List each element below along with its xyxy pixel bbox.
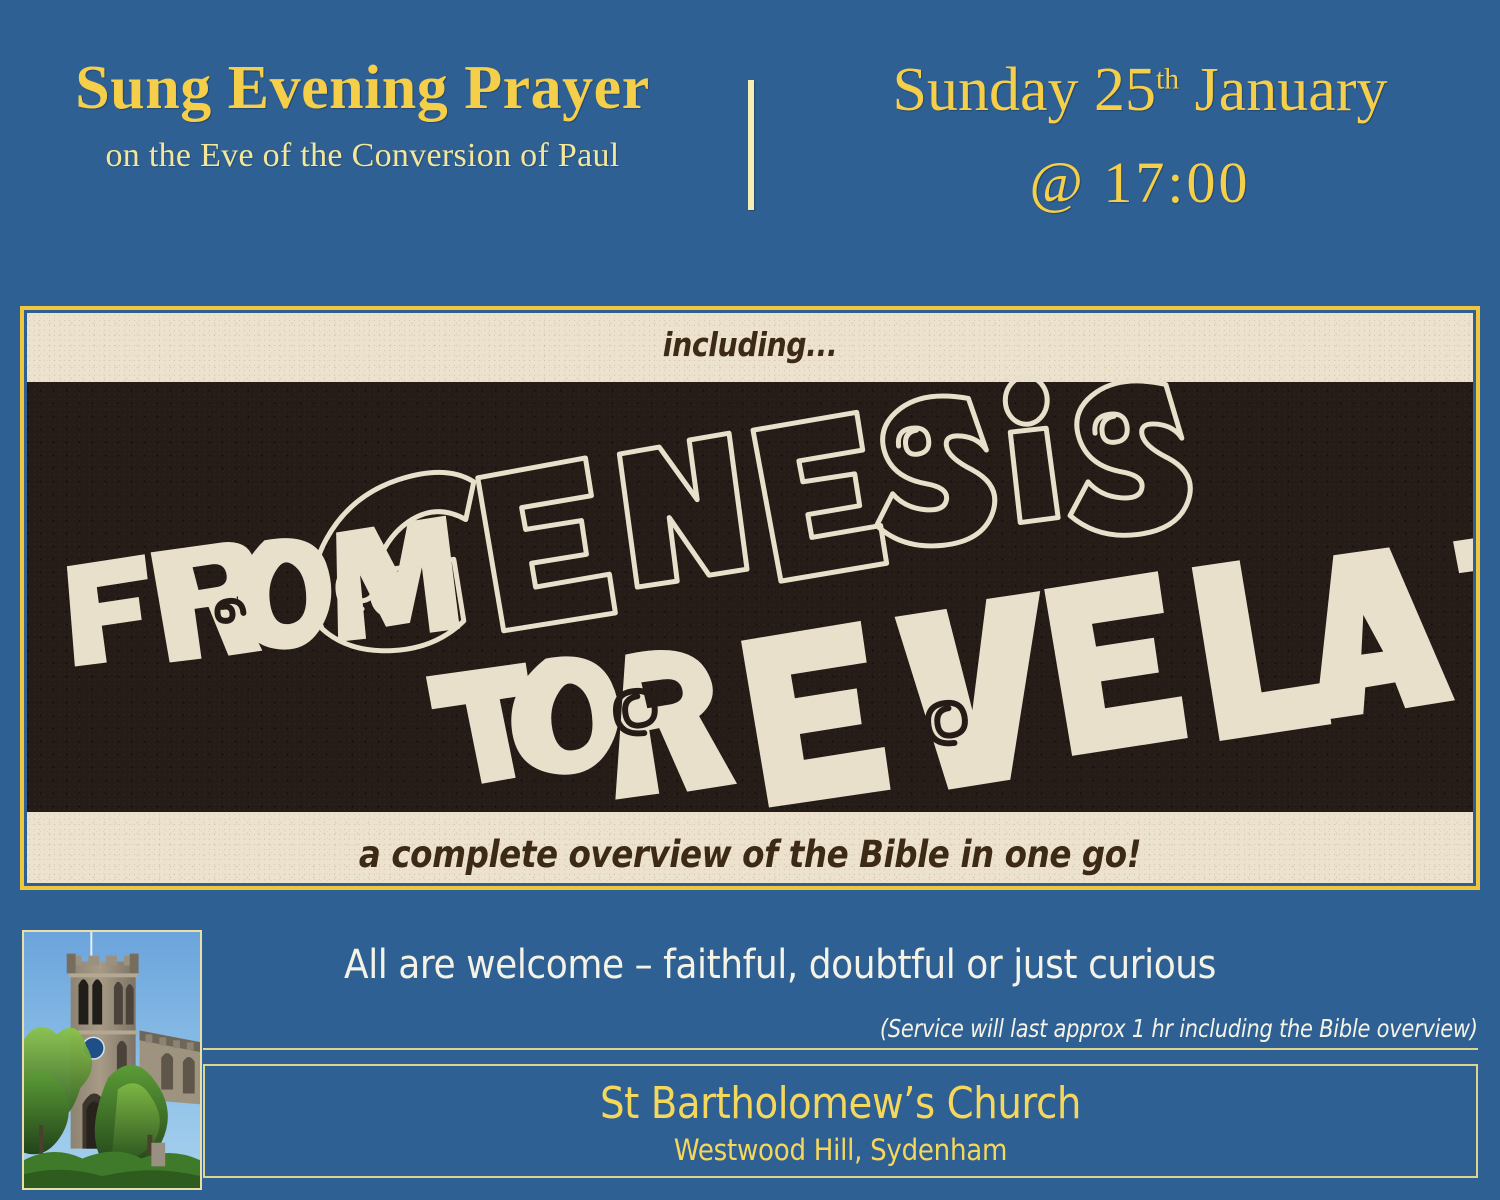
event-date-prefix: Sunday 25	[893, 56, 1157, 124]
service-duration-note: (Service will last approx 1 hr including…	[880, 1014, 1478, 1043]
footer-top-rule	[203, 1048, 1478, 1050]
church-address: Westwood Hill, Sydenham	[267, 1133, 1415, 1167]
event-date-suffix: January	[1179, 56, 1387, 124]
event-date: Sunday 25th January	[790, 58, 1490, 123]
poster-root: Sung Evening Prayer on the Eve of the Co…	[0, 0, 1500, 1200]
page-title: Sung Evening Prayer	[0, 56, 725, 121]
banner-intro-text: including...	[128, 325, 1372, 364]
event-time: @ 17:00	[790, 149, 1490, 216]
welcome-text: All are welcome – faithful, doubtful or …	[285, 942, 1275, 988]
banner-dark-band	[27, 382, 1473, 812]
banner-frame: including...	[20, 306, 1480, 890]
header-divider-rule	[748, 80, 754, 210]
page-subtitle: on the Eve of the Conversion of Paul	[0, 137, 725, 175]
banner-image: including...	[27, 313, 1473, 883]
church-photo-frame	[22, 930, 202, 1190]
banner-caption: a complete overview of the Bible in one …	[114, 833, 1386, 876]
church-tower-photo	[24, 932, 200, 1188]
event-date-ordinal: th	[1156, 62, 1179, 95]
header-right-block: Sunday 25th January @ 17:00	[790, 58, 1490, 216]
header-left-block: Sung Evening Prayer on the Eve of the Co…	[0, 56, 725, 175]
church-name: St Bartholomew’s Church	[280, 1078, 1402, 1129]
